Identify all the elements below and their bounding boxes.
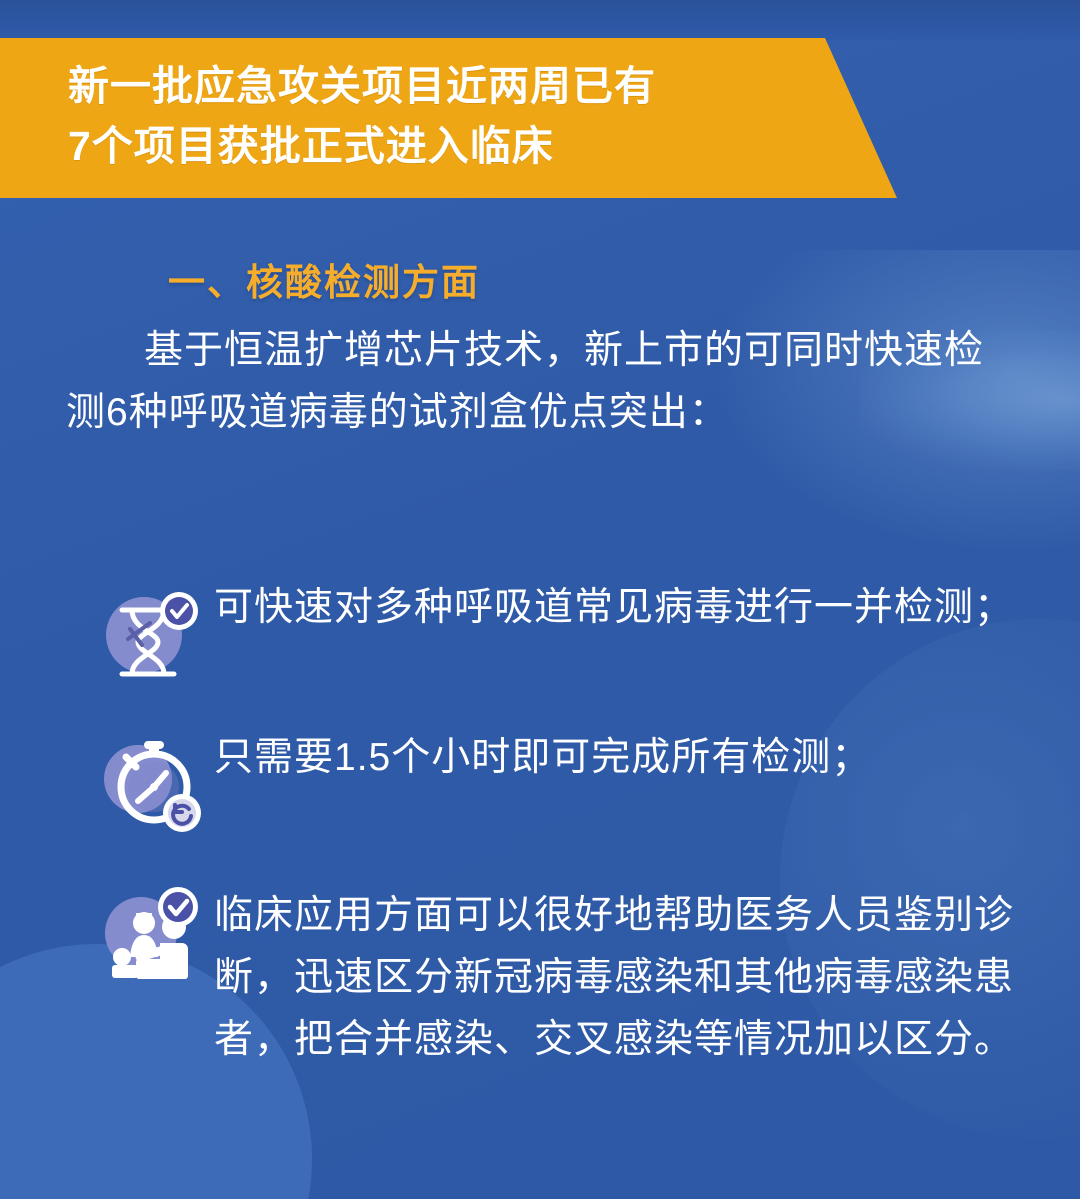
list-item-label: 只需要1.5个小时即可完成所有检测； [214,725,871,789]
poster-page: 新一批应急攻关项目近两周已有 7个项目获批正式进入临床 一、核酸检测方面 基于恒… [0,0,1080,1199]
bullet-list: 可快速对多种呼吸道常见病毒进行一并检测； [96,575,1056,1101]
list-item-label: 可快速对多种呼吸道常见病毒进行一并检测； [214,575,1014,639]
list-item: 临床应用方面可以很好地帮助医务人员鉴别诊断，迅速区分新冠病毒感染和其他病毒感染患… [96,883,1056,1071]
intro-paragraph: 基于恒温扩增芯片技术，新上市的可同时快速检测6种呼吸道病毒的试剂盒优点突出： [66,320,1016,444]
medical-staff-check-icon [96,885,208,997]
list-item: 只需要1.5个小时即可完成所有检测； [96,725,1056,839]
banner-title-line-1: 新一批应急攻关项目近两周已有 [68,56,900,116]
banner-title-line-2: 7个项目获批正式进入临床 [68,116,900,176]
stopwatch-refresh-icon [96,727,208,839]
list-item-label: 临床应用方面可以很好地帮助医务人员鉴别诊断，迅速区分新冠病毒感染和其他病毒感染患… [214,883,1056,1071]
section-heading: 一、核酸检测方面 [168,252,480,306]
list-item: 可快速对多种呼吸道常见病毒进行一并检测； [96,575,1056,689]
hourglass-check-icon [96,577,208,689]
title-banner: 新一批应急攻关项目近两周已有 7个项目获批正式进入临床 [0,38,900,198]
